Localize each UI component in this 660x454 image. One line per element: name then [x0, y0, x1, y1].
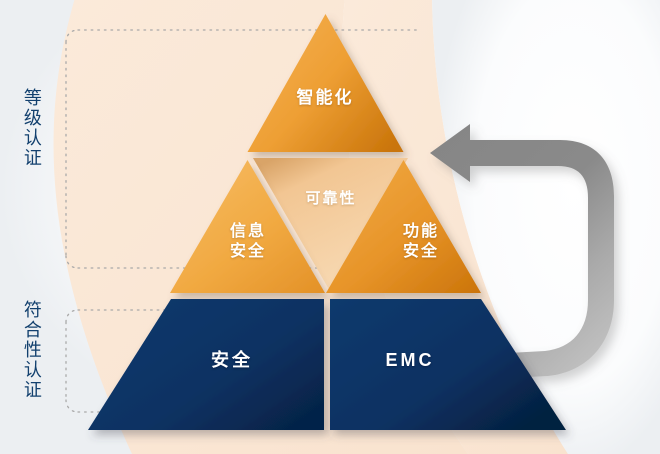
side-label-compliance-certification: 符合性认证 — [22, 300, 41, 400]
diagram-canvas: 等级认证 符合性认证 智能化 信息 安全 可靠性 功能 安全 安全 EMC — [0, 0, 660, 454]
pyramid-svg — [0, 0, 660, 454]
side-label-level-certification: 等级认证 — [22, 88, 41, 168]
